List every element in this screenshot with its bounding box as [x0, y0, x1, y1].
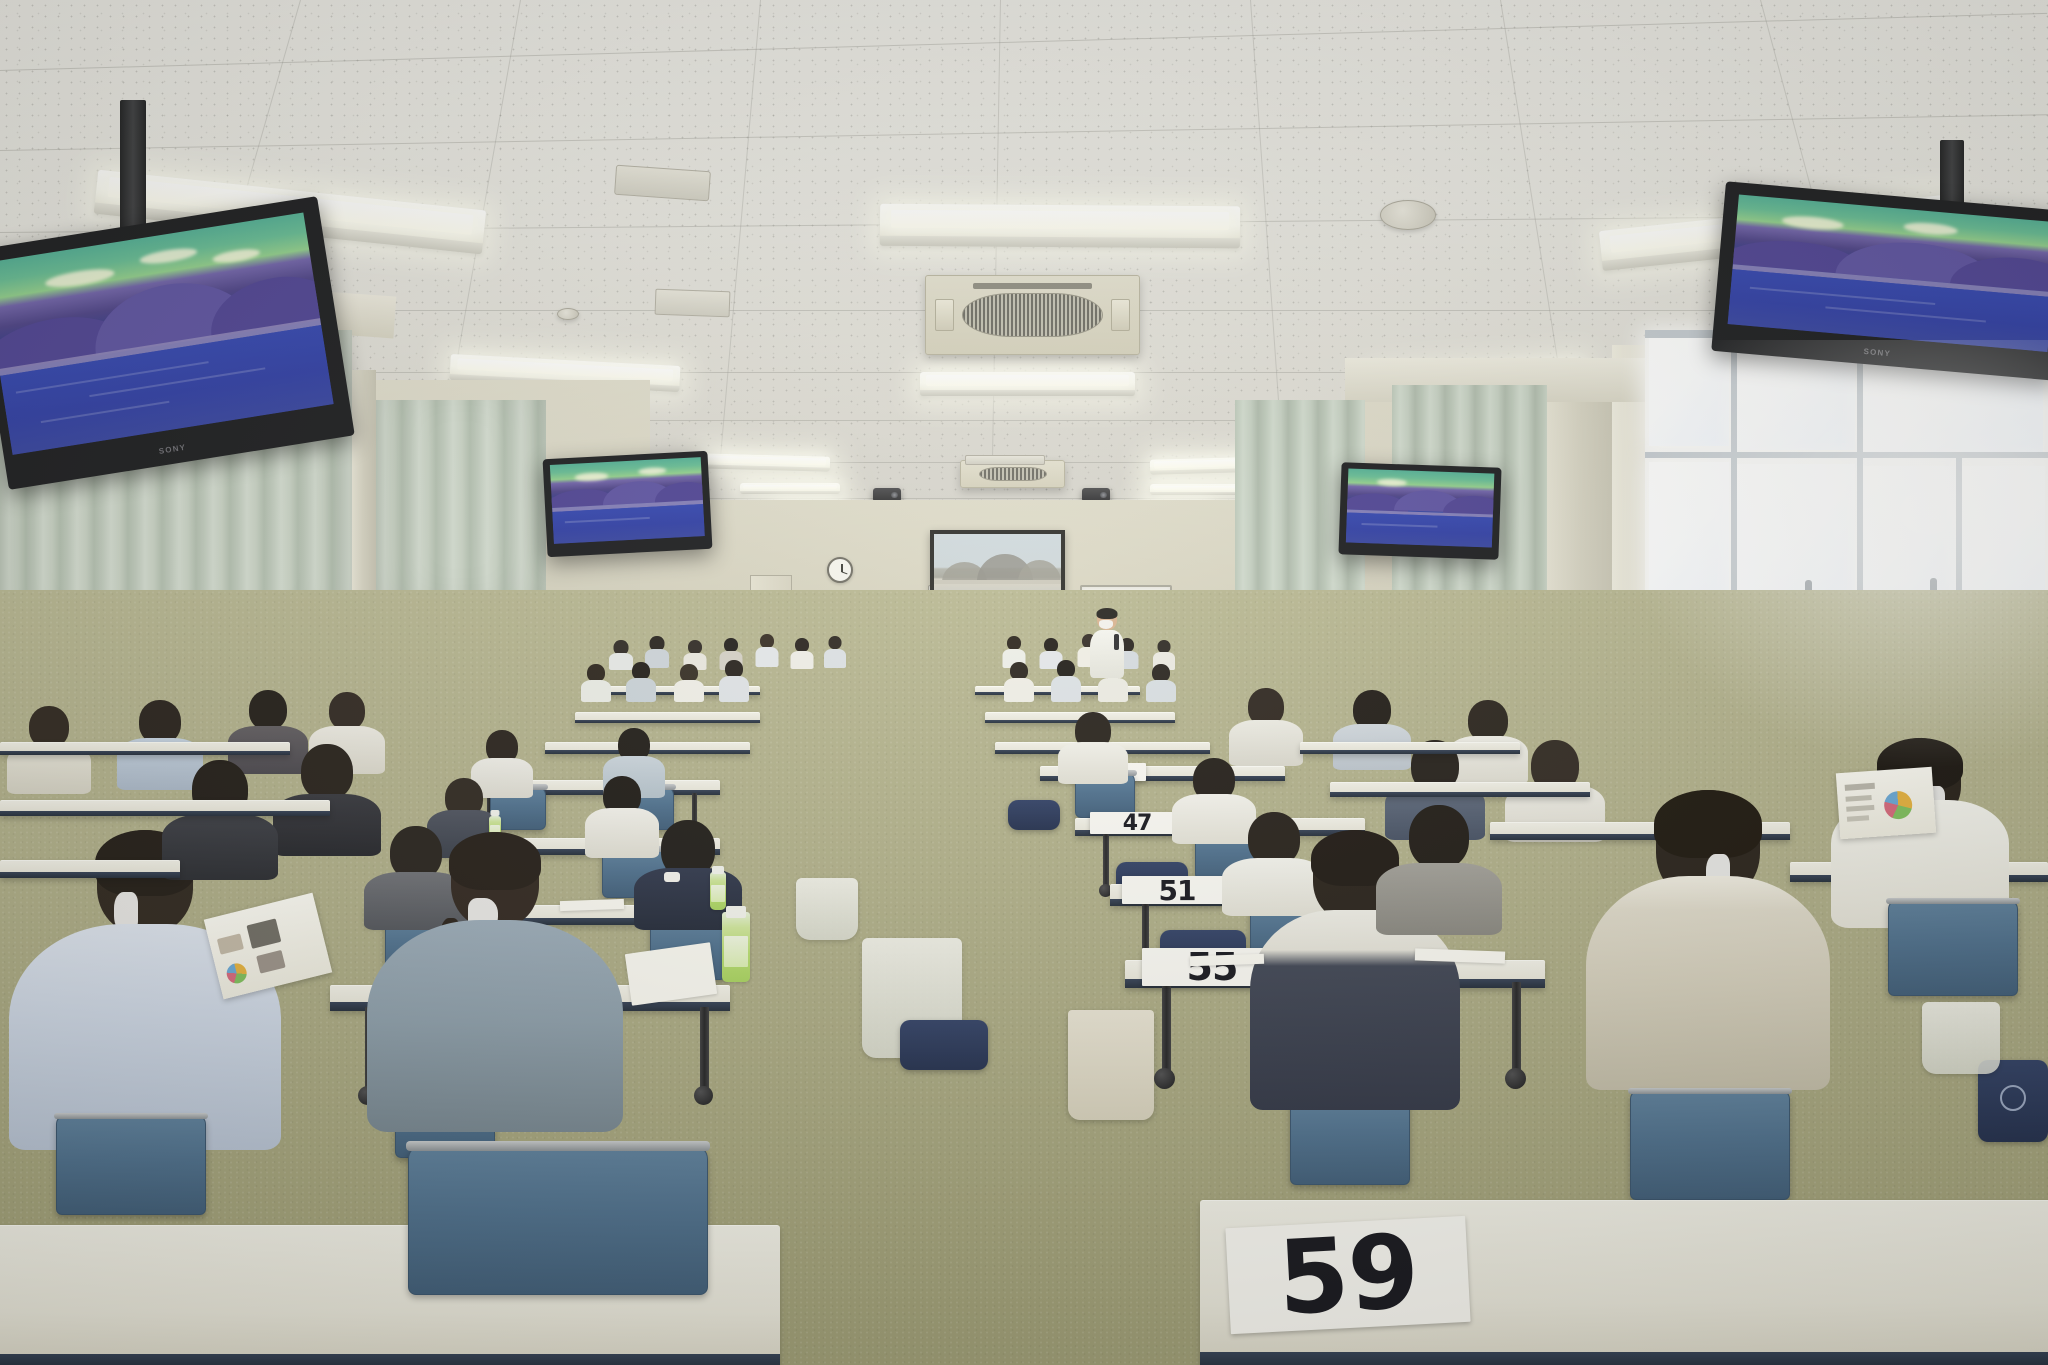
audience-member [612, 640, 630, 670]
ceiling-vent [965, 455, 1045, 465]
desk [0, 860, 180, 878]
chair[interactable] [408, 1145, 708, 1295]
desk-caster [1505, 1068, 1526, 1089]
seat-number-sign: 59 [1225, 1216, 1470, 1334]
audience-member [1008, 662, 1030, 702]
seat-number-sign: 47 [1090, 812, 1184, 834]
lecture-hall-photo: SONY SONY [0, 0, 2048, 1365]
audience-member-beige-vest [1618, 790, 1798, 1090]
audience-member [1068, 712, 1118, 784]
audience-member [758, 634, 776, 667]
audience-member [596, 776, 648, 858]
desk-caster [1154, 1068, 1175, 1089]
drink-bottle[interactable] [722, 912, 750, 982]
audience-member [793, 638, 811, 669]
chair[interactable] [56, 1115, 206, 1215]
desk-leg [1103, 834, 1109, 890]
audience-member [1240, 688, 1292, 766]
tv-ceiling-mount [120, 100, 146, 230]
fluorescent-light-fixture [880, 204, 1240, 249]
desk-leg [700, 1007, 709, 1095]
ceiling-vent [655, 289, 731, 318]
window-transom [1645, 452, 2048, 458]
desk [0, 742, 290, 755]
wall-monitor-mid-right [1338, 462, 1501, 560]
audience-member [1345, 690, 1399, 770]
handout-with-chart[interactable] [1836, 767, 1936, 840]
air-conditioner-unit [925, 275, 1140, 355]
desk [0, 800, 330, 816]
desk-caster [694, 1086, 713, 1105]
audience-member [723, 660, 745, 702]
ceiling-speaker [1380, 200, 1436, 230]
monitor-brand-label: SONY [1863, 347, 1891, 358]
fluorescent-light-fixture [740, 483, 840, 494]
wall-monitor-right: SONY [1711, 181, 2048, 380]
fluorescent-light-fixture [920, 372, 1135, 396]
audience-member [1395, 805, 1483, 935]
microphone [1114, 634, 1119, 650]
audience-member [1185, 758, 1243, 844]
audience-member [678, 664, 700, 702]
chair[interactable] [1630, 1090, 1790, 1200]
ceiling-speaker [557, 308, 579, 320]
desk [1300, 742, 1520, 754]
wall-clock [827, 557, 853, 583]
plastic-bag[interactable] [1922, 1002, 2000, 1074]
audience-member-grey-sweater [400, 832, 590, 1132]
chair[interactable] [1888, 900, 2018, 996]
seat-number-sign: 51 [1122, 876, 1232, 904]
window-pane [1649, 336, 1729, 446]
desk [1330, 782, 1590, 797]
sports-bag[interactable] [900, 1020, 988, 1070]
audience-member [1055, 660, 1077, 702]
bag-emblem [2000, 1085, 2026, 1111]
plastic-bag[interactable] [796, 878, 858, 940]
audience-member [585, 664, 607, 702]
audience-member [826, 636, 844, 668]
monitor-brand-label: SONY [158, 443, 187, 456]
audience-member [180, 760, 260, 880]
tote-bag[interactable] [1068, 1010, 1154, 1120]
presenter [1092, 608, 1122, 678]
audience-member [1150, 664, 1172, 702]
audience-member [630, 662, 652, 702]
wall-monitor-mid-left [543, 451, 713, 558]
drink-bottle[interactable] [710, 872, 726, 910]
desk [575, 712, 760, 723]
sports-bag[interactable] [1008, 800, 1060, 830]
desk-leg [1162, 982, 1171, 1078]
desk-leg [1512, 982, 1521, 1078]
